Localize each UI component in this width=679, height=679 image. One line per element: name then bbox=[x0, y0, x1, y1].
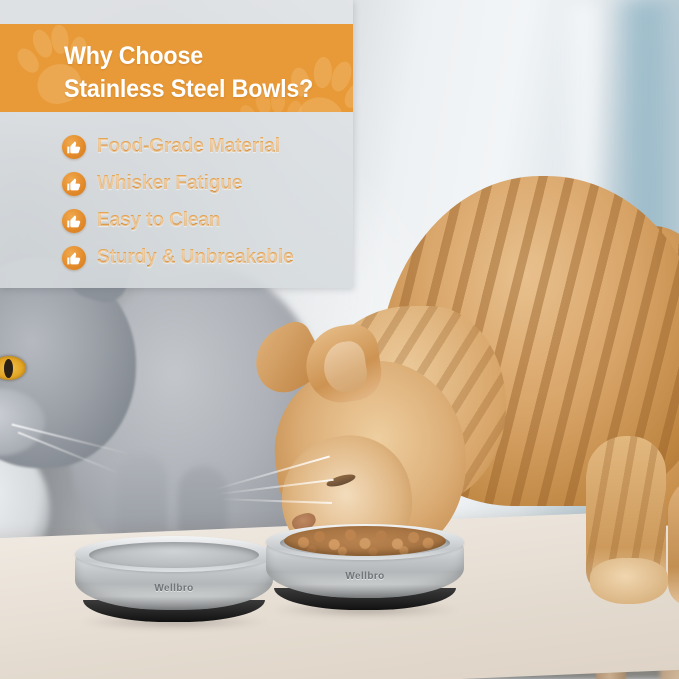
thumbs-up-icon bbox=[62, 135, 86, 159]
info-panel: Why Choose Stainless Steel Bowls? Food-G… bbox=[0, 0, 353, 288]
feature-label: Food-Grade Material bbox=[97, 135, 280, 158]
feature-list: Food-Grade Material Whisker Fatigue Easy… bbox=[62, 128, 304, 276]
thumbs-up-icon bbox=[62, 246, 86, 270]
grey-cat-pupil bbox=[4, 359, 13, 378]
headline-banner: Why Choose Stainless Steel Bowls? bbox=[0, 24, 353, 112]
feature-label: Sturdy & Unbreakable bbox=[97, 246, 294, 269]
product-feature-image: Wellbro Wellbro bbox=[0, 0, 679, 679]
bowl-brand-label: Wellbro bbox=[75, 583, 273, 594]
feature-item-whisker-fatigue: Whisker Fatigue bbox=[62, 165, 304, 202]
bowl-interior bbox=[89, 542, 259, 568]
feature-item-easy-to-clean: Easy to Clean bbox=[62, 202, 304, 239]
feature-label: Whisker Fatigue bbox=[97, 172, 242, 195]
headline-title: Why Choose Stainless Steel Bowls? bbox=[64, 40, 313, 106]
orange-cat-paw bbox=[590, 558, 668, 604]
bowl-with-food: Wellbro bbox=[266, 524, 464, 610]
thumbs-up-icon bbox=[62, 172, 86, 196]
bowl-brand-label: Wellbro bbox=[266, 571, 464, 582]
cat-food-kibble bbox=[284, 526, 446, 556]
feature-label: Easy to Clean bbox=[97, 209, 220, 232]
feature-item-food-grade-material: Food-Grade Material bbox=[62, 128, 304, 165]
feature-item-sturdy-unbreakable: Sturdy & Unbreakable bbox=[62, 239, 304, 276]
bowl-empty: Wellbro bbox=[75, 536, 273, 622]
thumbs-up-icon bbox=[62, 209, 86, 233]
